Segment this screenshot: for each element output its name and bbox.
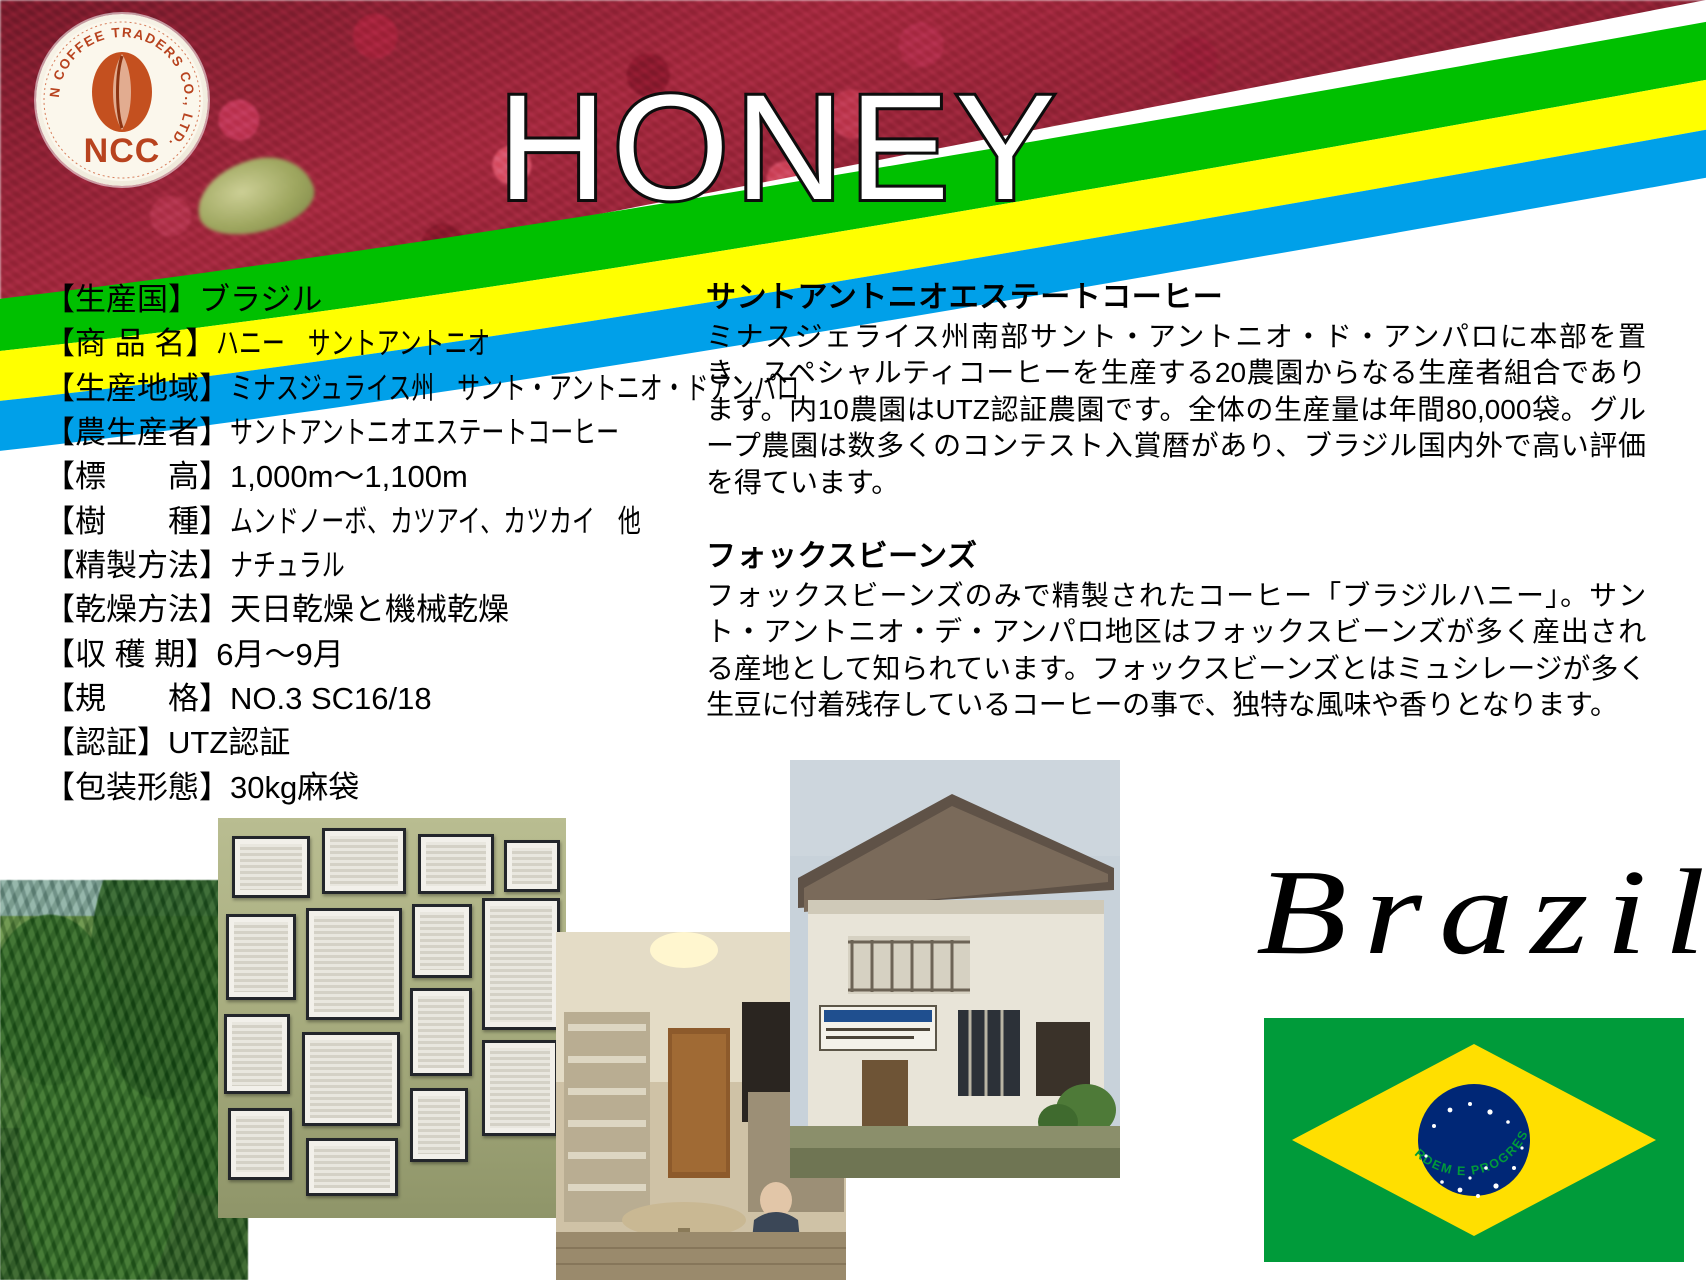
section-body-producer: ミナスジェライス州南部サント・アントニオ・ド・アンパロに本部を置き、スペシャルテ… [706, 319, 1646, 501]
page-title: HONEY [498, 72, 1061, 222]
spec-row: 【規 格】 NO.3 SC16/18 [44, 677, 704, 721]
spec-label: 【生産国】 [44, 278, 199, 322]
spec-label: 【樹 種】 [44, 500, 230, 544]
coffee-field-photo [0, 880, 248, 1280]
spec-value: 30kg麻袋 [230, 766, 359, 810]
spec-row: 【乾燥方法】 天日乾燥と機械乾燥 [44, 588, 704, 632]
spec-value: サントアントニオエステートコーヒー [230, 411, 619, 455]
brazil-flag: ORDEM E PROGRESSO [1264, 1018, 1684, 1262]
spec-row: 【樹 種】 ムンドノーボ、カツアイ、カツカイ 他 [44, 500, 704, 544]
spec-label: 【農生産者】 [44, 411, 230, 455]
spec-row: 【生産地域】 ミナスジュライス州 サント・アントニオ・ドアンパロ [44, 367, 704, 411]
spec-row: 【精製方法】 ナチュラル [44, 544, 704, 588]
spec-label: 【乾燥方法】 [44, 588, 230, 632]
spec-row: 【生産国】 ブラジル [44, 278, 704, 322]
spec-label: 【収 穫 期】 [44, 633, 216, 677]
spec-row: 【包装形態】 30kg麻袋 [44, 766, 704, 810]
country-wordmark: Brazil [1256, 852, 1706, 974]
section-heading-foxbeans: フォックスビーンズ [706, 531, 1646, 575]
spec-label: 【規 格】 [44, 677, 230, 721]
farm-building-photo [790, 760, 1120, 1178]
spec-value: 天日乾燥と機械乾燥 [230, 588, 509, 632]
spec-row: 【農生産者】 サントアントニオエステートコーヒー [44, 411, 704, 455]
logo-abbr-text: NCC [84, 132, 161, 170]
spec-label: 【包装形態】 [44, 766, 230, 810]
section-heading-producer: サントアントニオエステートコーヒー [706, 272, 1646, 316]
spec-row: 【認証】 UTZ認証 [44, 721, 704, 765]
spec-label: 【生産地域】 [44, 367, 230, 411]
section-body-foxbeans: フォックスビーンズのみで精製されたコーヒー「ブラジルハニー」。サント・アントニオ… [706, 578, 1646, 724]
spec-row: 【収 穫 期】 6月〜9月 [44, 633, 704, 677]
spec-value: 6月〜9月 [216, 633, 343, 677]
spec-value: 1,000m〜1,100m [230, 455, 468, 499]
spec-value: UTZ認証 [168, 721, 290, 765]
description-column: サントアントニオエステートコーヒー ミナスジェライス州南部サント・アントニオ・ド… [706, 272, 1646, 724]
product-spec-list: 【生産国】 ブラジル 【商 品 名】 ハニー サントアントニオ 【生産地域】 ミ… [44, 278, 704, 810]
spec-row: 【標 高】 1,000m〜1,100m [44, 455, 704, 499]
field-texture [0, 880, 248, 1280]
spec-value: ハニー サントアントニオ [216, 322, 490, 366]
spec-value: ムンドノーボ、カツアイ、カツカイ 他 [230, 500, 641, 544]
poster-root: NIPPON COFFEE TRADERS CO., LTD. NCC HONE… [0, 0, 1706, 1280]
spec-label: 【精製方法】 [44, 544, 230, 588]
spec-label: 【認証】 [44, 721, 168, 765]
ncc-logo: NIPPON COFFEE TRADERS CO., LTD. NCC [36, 14, 208, 186]
spec-value: ブラジル [199, 278, 322, 322]
spec-value: NO.3 SC16/18 [230, 677, 432, 721]
spec-label: 【商 品 名】 [44, 322, 216, 366]
award-plaques-wall-photo [218, 818, 566, 1218]
spec-row: 【商 品 名】 ハニー サントアントニオ [44, 322, 704, 366]
spec-label: 【標 高】 [44, 455, 230, 499]
spec-value: ナチュラル [230, 544, 345, 588]
